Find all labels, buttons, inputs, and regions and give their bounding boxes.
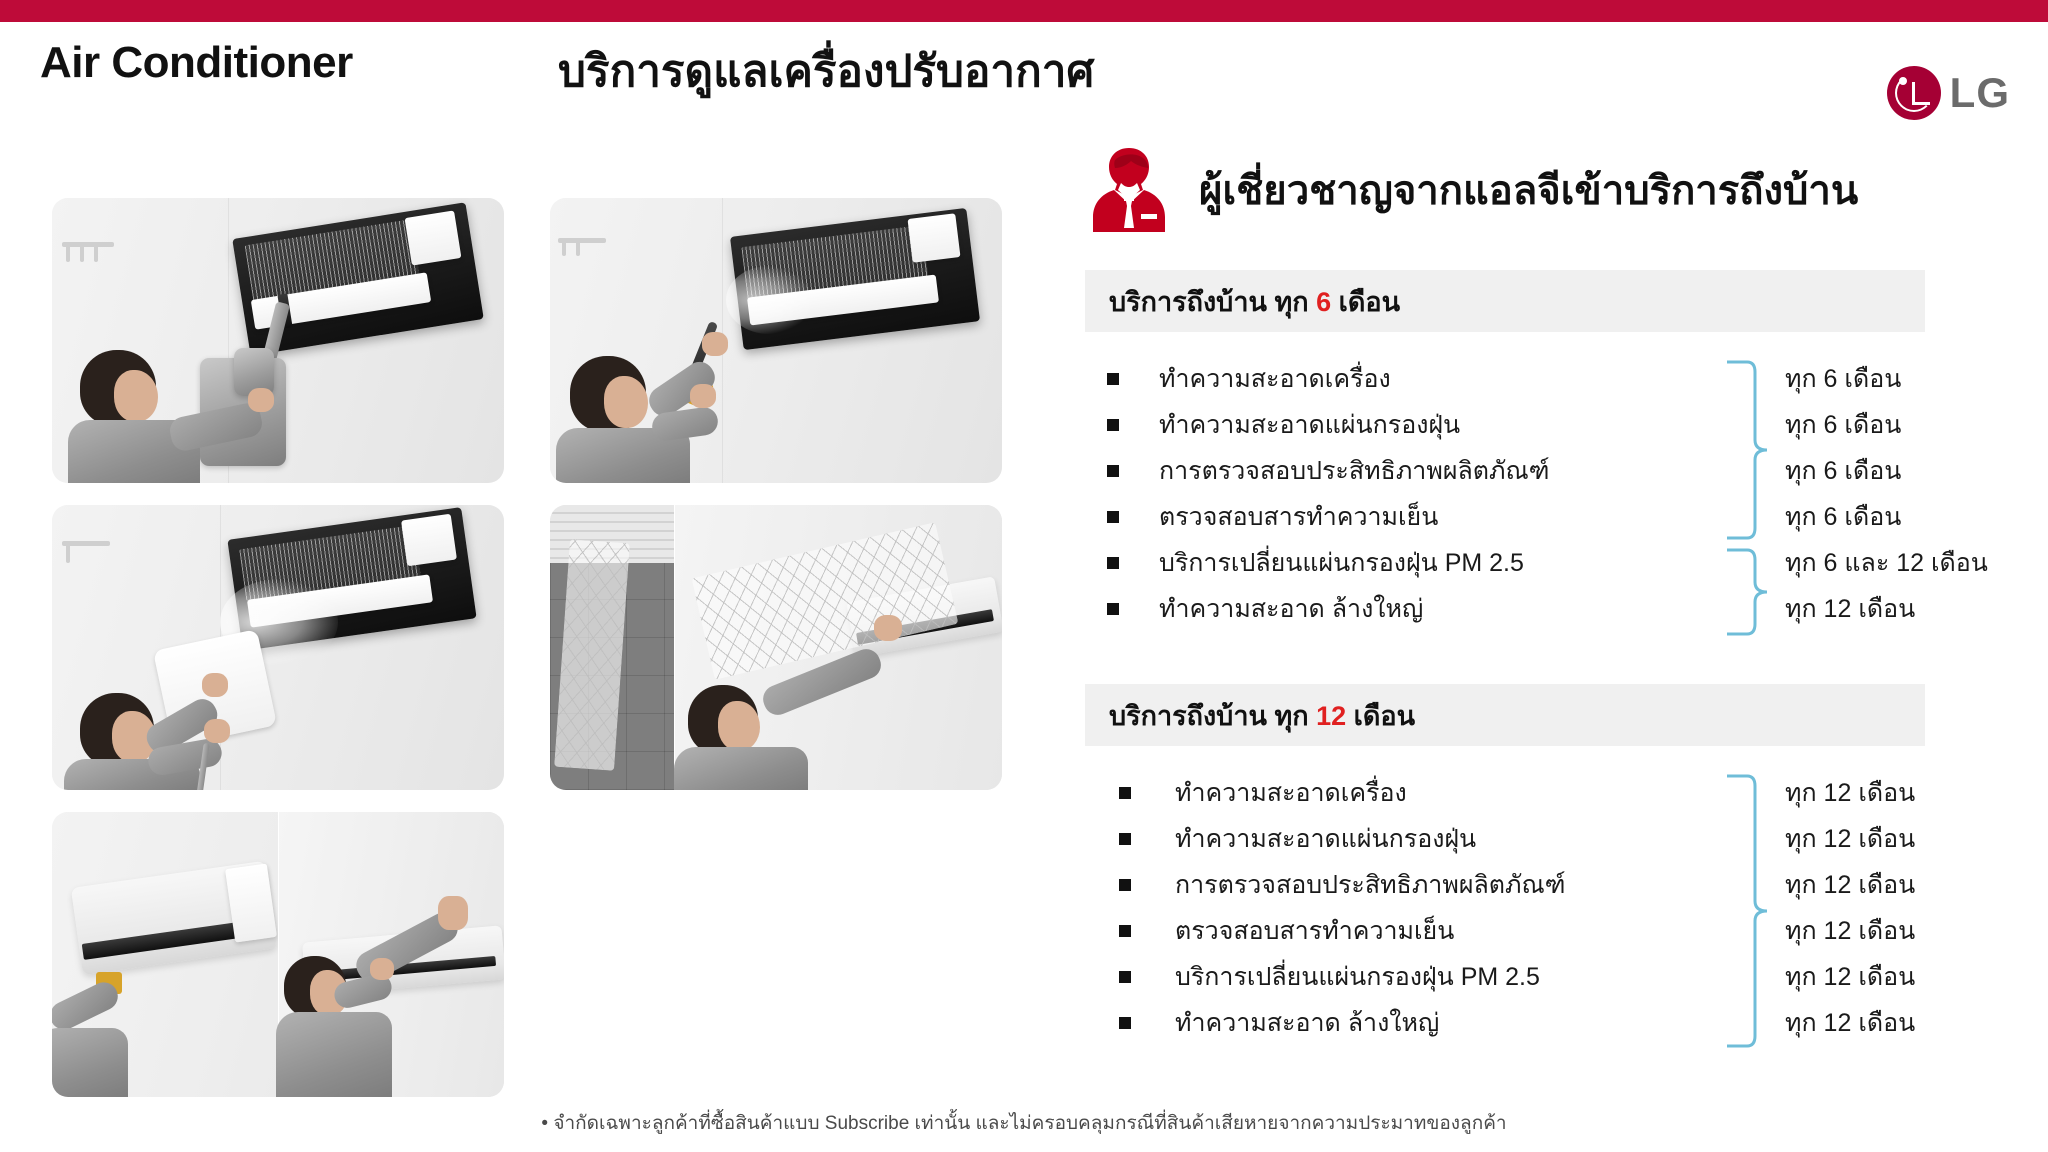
service-section-12-month: บริการถึงบ้าน ทุก 12 เดือน ทำความสะอาดเค…	[1085, 684, 2015, 1046]
page-title-thai: บริการดูแลเครื่องปรับอากาศ	[558, 36, 1094, 106]
service-name: ตรวจสอบสารทำความเย็น	[1175, 911, 1454, 951]
service-name: ทำความสะอาดเครื่อง	[1175, 773, 1407, 813]
bullet-square-icon	[1107, 603, 1119, 615]
service-frequency: ทุก 6 เดือน	[1785, 497, 1901, 537]
photo-row-3	[52, 812, 1002, 1097]
section-heading-6: บริการถึงบ้าน ทุก 6 เดือน	[1109, 280, 1400, 323]
bullet-square-icon	[1119, 925, 1131, 937]
service-frequency: ทุก 6 เดือน	[1785, 405, 1901, 445]
table-row: ทำความสะอาดแผ่นกรองฝุ่น ทุก 12 เดือน	[1085, 816, 2015, 862]
lg-face-mark-icon	[1887, 66, 1941, 120]
table-row: การตรวจสอบประสิทธิภาพผลิตภัณฑ์ ทุก 12 เด…	[1085, 862, 2015, 908]
service-name: ทำความสะอาดแผ่นกรองฝุ่น	[1159, 405, 1460, 445]
footnote-disclaimer: • จำกัดเฉพาะลูกค้าที่ซื้อสินค้าแบบ Subsc…	[541, 1108, 1506, 1138]
table-row: ทำความสะอาด ล้างใหญ่ ทุก 12 เดือน	[1085, 1000, 2015, 1046]
service-name: ทำความสะอาด ล้างใหญ่	[1175, 1003, 1439, 1043]
service-table-12: ทำความสะอาดเครื่อง ทุก 12 เดือน ทำความสะ…	[1085, 770, 2015, 1046]
service-name: การตรวจสอบประสิทธิภาพผลิตภัณฑ์	[1175, 865, 1565, 905]
service-frequency: ทุก 12 เดือน	[1785, 589, 1915, 629]
section-header-bar-12: บริการถึงบ้าน ทุก 12 เดือน	[1085, 684, 1925, 746]
service-frequency: ทุก 6 และ 12 เดือน	[1785, 543, 1988, 583]
service-frequency: ทุก 12 เดือน	[1785, 773, 1915, 813]
service-table-6: ทำความสะอาดเครื่อง ทุก 6 เดือน ทำความสะอ…	[1085, 356, 2015, 632]
service-name: การตรวจสอบประสิทธิภาพผลิตภัณฑ์	[1159, 451, 1549, 491]
bullet-square-icon	[1107, 419, 1119, 431]
service-name: บริการเปลี่ยนแผ่นกรองฝุ่น PM 2.5	[1159, 543, 1524, 583]
lg-logo: LG	[1887, 66, 2010, 120]
section-heading-suffix: เดือน	[1331, 287, 1400, 317]
table-row: การตรวจสอบประสิทธิภาพผลิตภัณฑ์ ทุก 6 เดื…	[1085, 448, 2015, 494]
table-row: บริการเปลี่ยนแผ่นกรองฝุ่น PM 2.5 ทุก 6 แ…	[1085, 540, 2015, 586]
service-name: ทำความสะอาดแผ่นกรองฝุ่น	[1175, 819, 1476, 859]
expert-headline-row: ผู้เชี่ยวชาญจากแอลจีเข้าบริการถึงบ้าน	[1085, 140, 2015, 240]
section-header-bar-6: บริการถึงบ้าน ทุก 6 เดือน	[1085, 270, 1925, 332]
table-row: ทำความสะอาด ล้างใหญ่ ทุก 12 เดือน	[1085, 586, 2015, 632]
service-frequency: ทุก 12 เดือน	[1785, 911, 1915, 951]
table-row: บริการเปลี่ยนแผ่นกรองฝุ่น PM 2.5 ทุก 12 …	[1085, 954, 2015, 1000]
page-title-english: Air Conditioner	[40, 38, 353, 88]
photo-row-1	[52, 198, 1002, 483]
photo-steam-clean-panel	[52, 505, 504, 790]
bullet-square-icon	[1107, 511, 1119, 523]
service-frequency: ทุก 12 เดือน	[1785, 865, 1915, 905]
service-frequency: ทุก 12 เดือน	[1785, 957, 1915, 997]
section-heading-number: 6	[1316, 287, 1331, 317]
photo-final-check-wipe	[52, 812, 504, 1097]
table-row: ทำความสะอาดเครื่อง ทุก 12 เดือน	[1085, 770, 2015, 816]
service-frequency: ทุก 6 เดือน	[1785, 451, 1901, 491]
service-frequency: ทุก 12 เดือน	[1785, 1003, 1915, 1043]
section-heading-prefix: บริการถึงบ้าน ทุก	[1109, 701, 1316, 731]
section-heading-prefix: บริการถึงบ้าน ทุก	[1109, 287, 1316, 317]
service-name: บริการเปลี่ยนแผ่นกรองฝุ่น PM 2.5	[1175, 957, 1540, 997]
photo-row-2	[52, 505, 1002, 790]
photo-vacuum-indoor-unit	[52, 198, 504, 483]
service-name: ตรวจสอบสารทำความเย็น	[1159, 497, 1438, 537]
table-row: ทำความสะอาดแผ่นกรองฝุ่น ทุก 6 เดือน	[1085, 402, 2015, 448]
photo-grid	[52, 198, 1002, 1119]
table-row: ตรวจสอบสารทำความเย็น ทุก 6 เดือน	[1085, 494, 2015, 540]
expert-headline: ผู้เชี่ยวชาญจากแอลจีเข้าบริการถึงบ้าน	[1199, 158, 1858, 222]
service-technician-icon	[1085, 144, 1173, 236]
service-section-6-month: บริการถึงบ้าน ทุก 6 เดือน ทำความสะอาดเคร…	[1085, 270, 2015, 632]
brand-top-bar	[0, 0, 2048, 22]
bullet-square-icon	[1119, 879, 1131, 891]
bullet-square-icon	[1107, 557, 1119, 569]
section-heading-number: 12	[1316, 701, 1346, 731]
service-name: ทำความสะอาด ล้างใหญ่	[1159, 589, 1423, 629]
service-frequency: ทุก 6 เดือน	[1785, 359, 1901, 399]
service-frequency: ทุก 12 เดือน	[1785, 819, 1915, 859]
bullet-square-icon	[1107, 373, 1119, 385]
section-heading-suffix: เดือน	[1346, 701, 1415, 731]
bullet-square-icon	[1119, 1017, 1131, 1029]
table-row: ทำความสะอาดเครื่อง ทุก 6 เดือน	[1085, 356, 2015, 402]
table-row: ตรวจสอบสารทำความเย็น ทุก 12 เดือน	[1085, 908, 2015, 954]
bullet-square-icon	[1119, 787, 1131, 799]
bullet-square-icon	[1107, 465, 1119, 477]
section-heading-12: บริการถึงบ้าน ทุก 12 เดือน	[1109, 694, 1415, 737]
slide: Air Conditioner บริการดูแลเครื่องปรับอาก…	[0, 0, 2048, 1152]
bullet-square-icon	[1119, 833, 1131, 845]
photo-spray-clean-coil	[550, 198, 1002, 483]
page-header: Air Conditioner บริการดูแลเครื่องปรับอาก…	[0, 36, 2048, 112]
lg-wordmark: LG	[1950, 72, 2010, 114]
bullet-square-icon	[1119, 971, 1131, 983]
service-details-column: ผู้เชี่ยวชาญจากแอลจีเข้าบริการถึงบ้าน บร…	[1085, 140, 2015, 1046]
photo-filter-replacement	[550, 505, 1002, 790]
service-name: ทำความสะอาดเครื่อง	[1159, 359, 1391, 399]
